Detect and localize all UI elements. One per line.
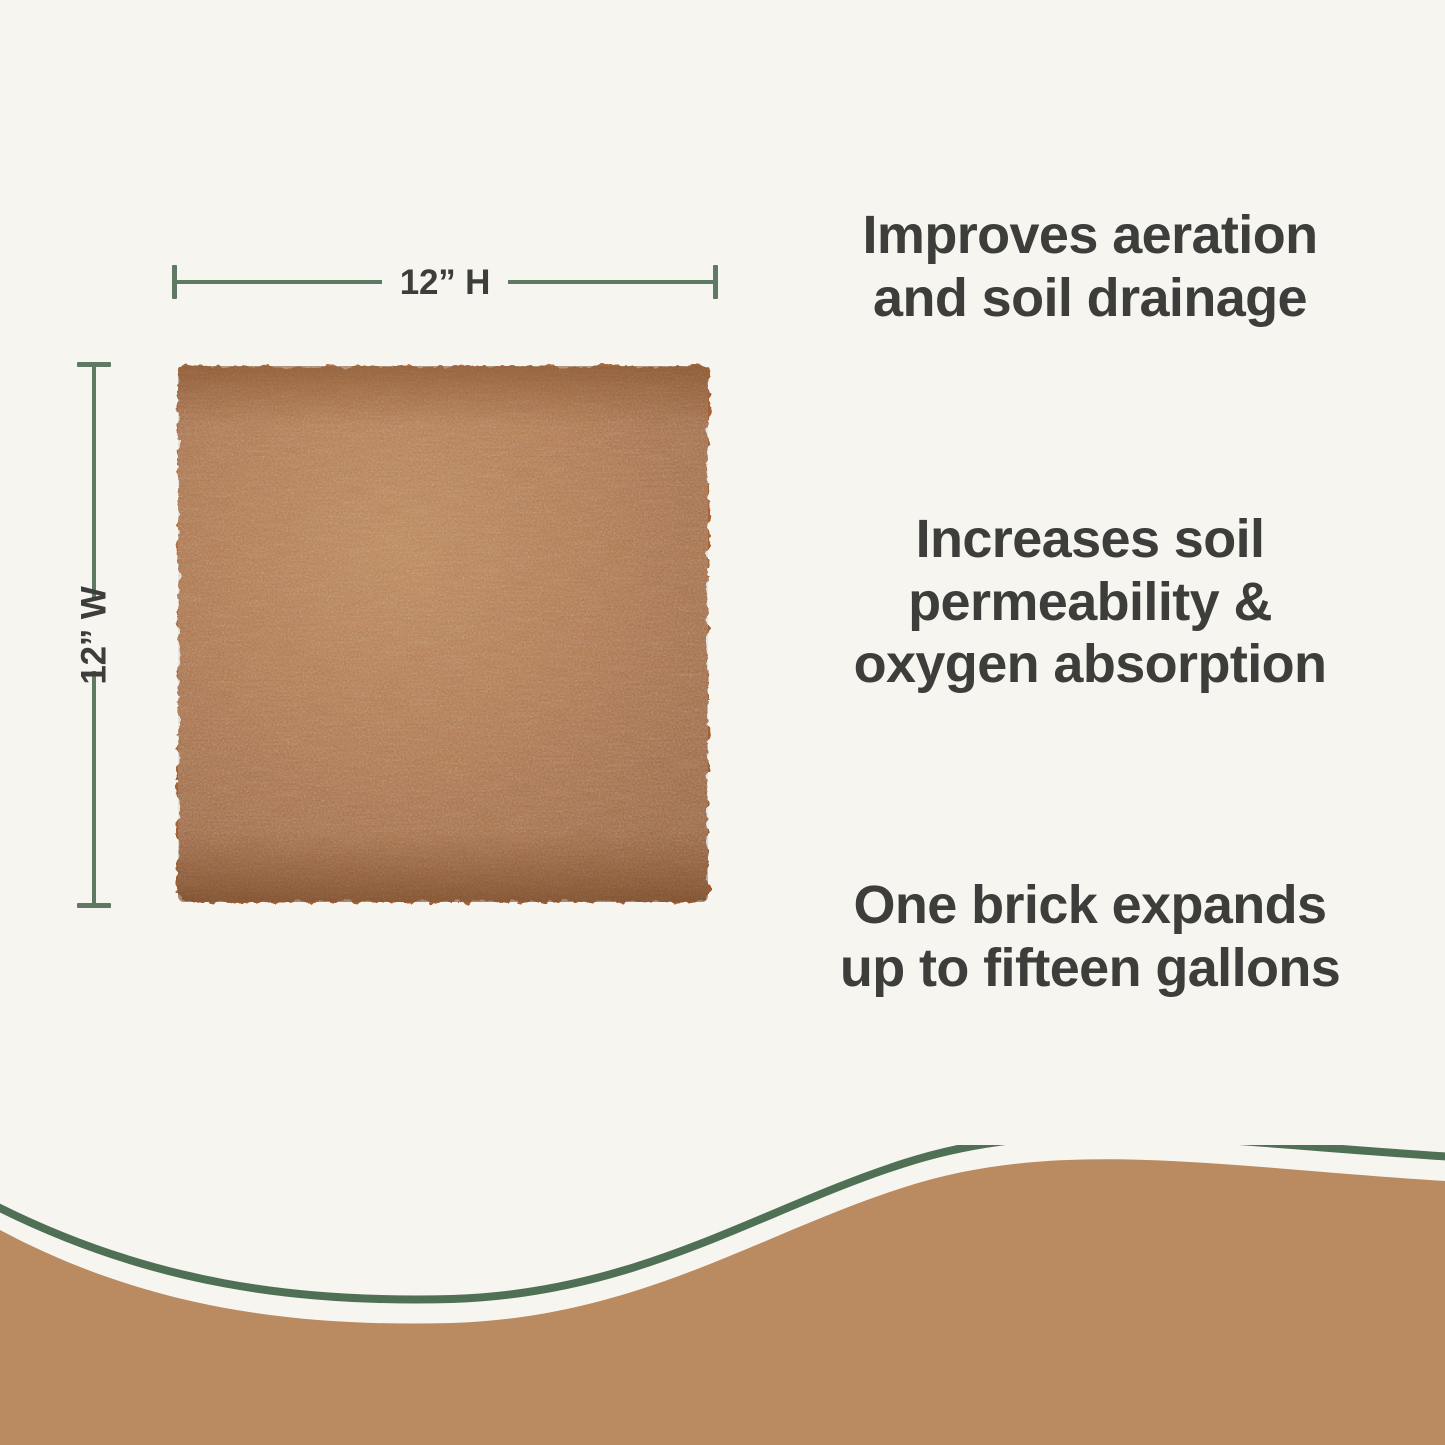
benefit-line: permeability & — [780, 571, 1400, 634]
benefits-list: Improves aeration and soil drainage Incr… — [780, 0, 1400, 1150]
dimension-label-width: 12” W — [59, 586, 130, 684]
benefit-line: Improves aeration — [780, 204, 1400, 267]
product-figure: 12” H 12” W — [0, 0, 790, 1150]
benefit-line: and soil drainage — [780, 267, 1400, 330]
benefit-expansion-volume: One brick expands up to fifteen gallons — [780, 874, 1400, 999]
dimension-rule-bottom — [92, 671, 96, 904]
benefit-line: oxygen absorption — [780, 633, 1400, 696]
dimension-line-horizontal: 12” H — [172, 262, 718, 302]
dimension-line-vertical: 12” W — [74, 362, 114, 908]
benefit-permeability-oxygen: Increases soil permeability & oxygen abs… — [780, 508, 1400, 696]
coco-coir-brick-image — [172, 360, 714, 908]
dimension-rule-left — [177, 280, 382, 284]
wave-fill — [0, 1159, 1445, 1445]
dimension-cap-right — [713, 265, 718, 299]
dimension-rule-right — [508, 280, 713, 284]
benefit-line: up to fifteen gallons — [780, 937, 1400, 1000]
benefit-line: One brick expands — [780, 874, 1400, 937]
dimension-cap-bottom — [77, 903, 111, 908]
soil-wave-divider — [0, 1145, 1445, 1445]
dimension-rule-top — [92, 367, 96, 600]
benefit-aeration-drainage: Improves aeration and soil drainage — [780, 204, 1400, 329]
benefit-line: Increases soil — [780, 508, 1400, 571]
dimension-label-height: 12” H — [382, 265, 508, 300]
